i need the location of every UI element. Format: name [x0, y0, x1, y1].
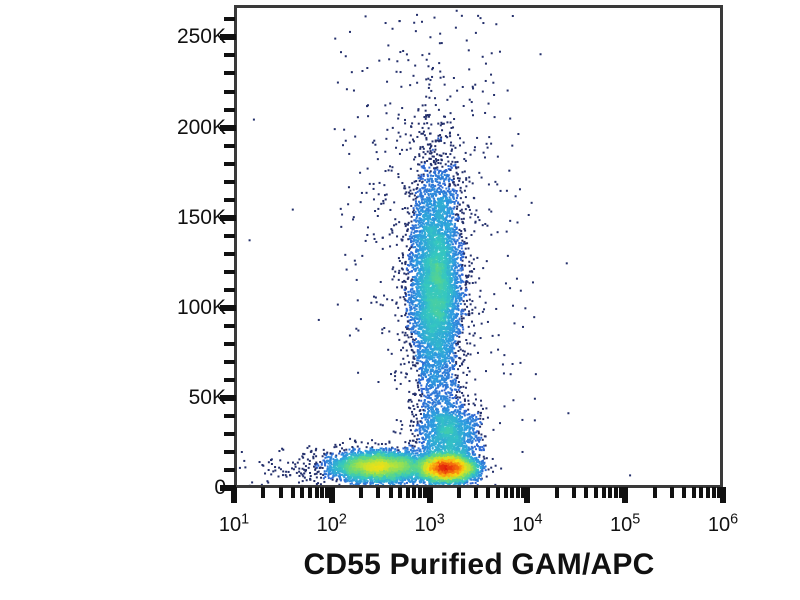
x-axis-minor-tick: [261, 487, 265, 498]
x-axis-minor-tick: [474, 487, 478, 498]
x-tick-exponent: 6: [730, 511, 738, 527]
x-axis-minor-tick: [496, 487, 500, 498]
y-axis-tick-label: 0: [146, 476, 226, 500]
x-axis-minor-tick: [457, 487, 461, 498]
x-axis-major-tick: [231, 487, 237, 503]
x-axis-minor-tick: [706, 487, 710, 498]
x-axis-major-tick: [622, 487, 628, 503]
x-axis-minor-tick: [486, 487, 490, 498]
x-axis-minor-tick: [614, 487, 618, 498]
x-axis-tick-label: 106: [708, 514, 738, 537]
x-axis-title: CD55 Purified GAM/APC: [234, 548, 724, 582]
x-axis-minor-tick: [510, 487, 514, 498]
x-tick-exponent: 5: [632, 511, 640, 527]
x-axis-minor-tick: [376, 487, 380, 498]
flow-cytometry-figure: 050K100K150K200K250K 101102103104105106 …: [0, 0, 800, 600]
x-axis-minor-tick: [389, 487, 393, 498]
x-axis-tick-label: 104: [512, 514, 542, 537]
x-axis-minor-tick: [300, 487, 304, 498]
y-axis-title-wrap: SS-H :: SS INT LIN: [58, 30, 102, 460]
x-tick-base: 10: [610, 514, 632, 536]
x-axis-minor-tick: [516, 487, 520, 498]
x-axis-minor-tick: [608, 487, 612, 498]
x-axis-minor-tick: [555, 487, 559, 498]
x-axis-minor-tick: [315, 487, 319, 498]
x-axis-minor-tick: [692, 487, 696, 498]
x-tick-exponent: 1: [241, 511, 249, 527]
x-axis-minor-tick: [320, 487, 324, 498]
x-axis-minor-tick: [279, 487, 283, 498]
y-axis-title: SS-H :: SS INT LIN: [110, 0, 154, 74]
x-tick-base: 10: [219, 514, 241, 536]
x-axis-minor-tick: [398, 487, 402, 498]
x-axis-tick-label: 105: [610, 514, 640, 537]
x-axis-major-tick: [720, 487, 726, 503]
x-axis-minor-tick: [412, 487, 416, 498]
x-axis-major-tick: [329, 487, 335, 503]
x-axis-minor-tick: [594, 487, 598, 498]
x-tick-base: 10: [414, 514, 436, 536]
x-axis-tick-label: 102: [317, 514, 347, 537]
x-axis-minor-tick: [602, 487, 606, 498]
x-axis-tick-label: 101: [219, 514, 249, 537]
x-tick-base: 10: [708, 514, 730, 536]
x-axis-major-tick: [427, 487, 433, 503]
y-axis-tick-label: 250K: [146, 25, 226, 49]
x-axis-minor-tick: [584, 487, 588, 498]
x-axis-minor-tick: [699, 487, 703, 498]
x-axis-tick-label: 103: [414, 514, 444, 537]
x-axis-minor-tick: [406, 487, 410, 498]
x-tick-base: 10: [317, 514, 339, 536]
x-axis-tick-labels: 101102103104105106: [0, 502, 800, 538]
x-axis-minor-tick: [359, 487, 363, 498]
x-axis-minor-tick: [682, 487, 686, 498]
y-axis-tick-label: 50K: [146, 386, 226, 410]
x-tick-base: 10: [512, 514, 534, 536]
density-scatter-plot[interactable]: [234, 5, 723, 488]
x-axis-minor-tick: [308, 487, 312, 498]
y-axis-tick-label: 200K: [146, 116, 226, 140]
x-axis-major-tick: [524, 487, 530, 503]
x-axis-minor-tick: [418, 487, 422, 498]
x-tick-exponent: 3: [437, 511, 445, 527]
y-axis-tick-label: 100K: [146, 296, 226, 320]
x-axis-minor-tick: [572, 487, 576, 498]
x-tick-exponent: 2: [339, 511, 347, 527]
x-axis-minor-tick: [653, 487, 657, 498]
x-axis-minor-tick: [291, 487, 295, 498]
x-axis-minor-tick: [504, 487, 508, 498]
y-axis-tick-label: 150K: [146, 206, 226, 230]
x-axis-minor-tick: [670, 487, 674, 498]
x-tick-exponent: 4: [535, 511, 543, 527]
x-axis-minor-tick: [712, 487, 716, 498]
